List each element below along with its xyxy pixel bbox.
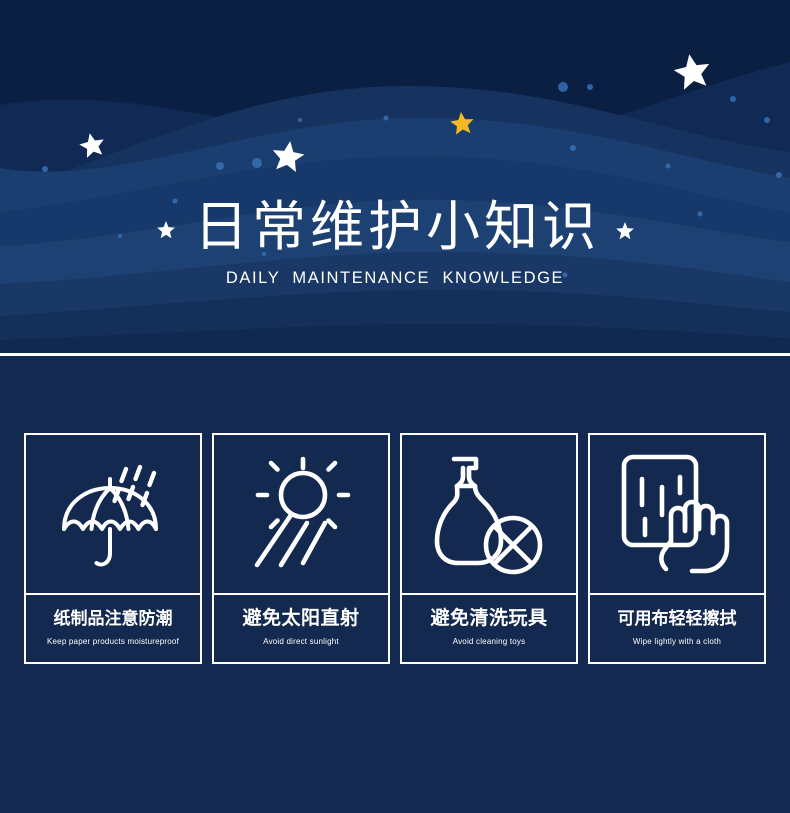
tip-card-label-pane: 避免清洗玩具 Avoid cleaning toys — [402, 595, 576, 662]
hero-text-block: 日常维护小知识 DAILY MAINTENANCE KNOWLEDGE — [0, 196, 790, 288]
tip-card-title-cn: 纸制品注意防潮 — [54, 607, 173, 631]
tip-card-icon-pane — [26, 435, 200, 593]
maintenance-infographic-page: 日常维护小知识 DAILY MAINTENANCE KNOWLEDGE — [0, 0, 790, 813]
hand-wipe-cloth-icon — [618, 451, 736, 577]
tip-card-moistureproof[interactable]: 纸制品注意防潮 Keep paper products moistureproo… — [24, 433, 202, 664]
spray-bottle-prohibited-icon — [431, 451, 547, 577]
tip-card-wipe[interactable]: 可用布轻轻擦拭 Wipe lightly with a cloth — [588, 433, 766, 664]
page-subtitle: DAILY MAINTENANCE KNOWLEDGE — [0, 268, 790, 288]
tip-card-title-en: Avoid cleaning toys — [453, 636, 526, 648]
tip-card-title-cn: 可用布轻轻擦拭 — [618, 607, 737, 631]
maintenance-tip-cards: 纸制品注意防潮 Keep paper products moistureproo… — [24, 433, 766, 664]
umbrella-rain-icon — [53, 455, 173, 573]
tip-card-label-pane: 可用布轻轻擦拭 Wipe lightly with a cloth — [590, 595, 764, 662]
hero-divider-line — [0, 353, 790, 356]
tip-card-sunlight[interactable]: 避免太阳直射 Avoid direct sunlight — [212, 433, 390, 664]
tip-card-title-en: Wipe lightly with a cloth — [633, 636, 721, 648]
tip-card-icon-pane — [402, 435, 576, 593]
tip-card-label-pane: 纸制品注意防潮 Keep paper products moistureproo… — [26, 595, 200, 662]
tip-card-cleaning[interactable]: 避免清洗玩具 Avoid cleaning toys — [400, 433, 578, 664]
tip-card-icon-pane — [214, 435, 388, 593]
tip-card-icon-pane — [590, 435, 764, 593]
tip-card-title-en: Avoid direct sunlight — [263, 636, 339, 648]
hero-wave-background — [0, 0, 790, 353]
sun-rays-icon — [241, 453, 361, 575]
page-title: 日常维护小知识 — [0, 196, 790, 258]
tip-card-title-en: Keep paper products moistureproof — [47, 636, 179, 648]
hero-banner: 日常维护小知识 DAILY MAINTENANCE KNOWLEDGE — [0, 0, 790, 353]
tip-card-title-cn: 避免清洗玩具 — [430, 607, 547, 631]
tip-card-label-pane: 避免太阳直射 Avoid direct sunlight — [214, 595, 388, 662]
tip-card-title-cn: 避免太阳直射 — [242, 607, 359, 631]
